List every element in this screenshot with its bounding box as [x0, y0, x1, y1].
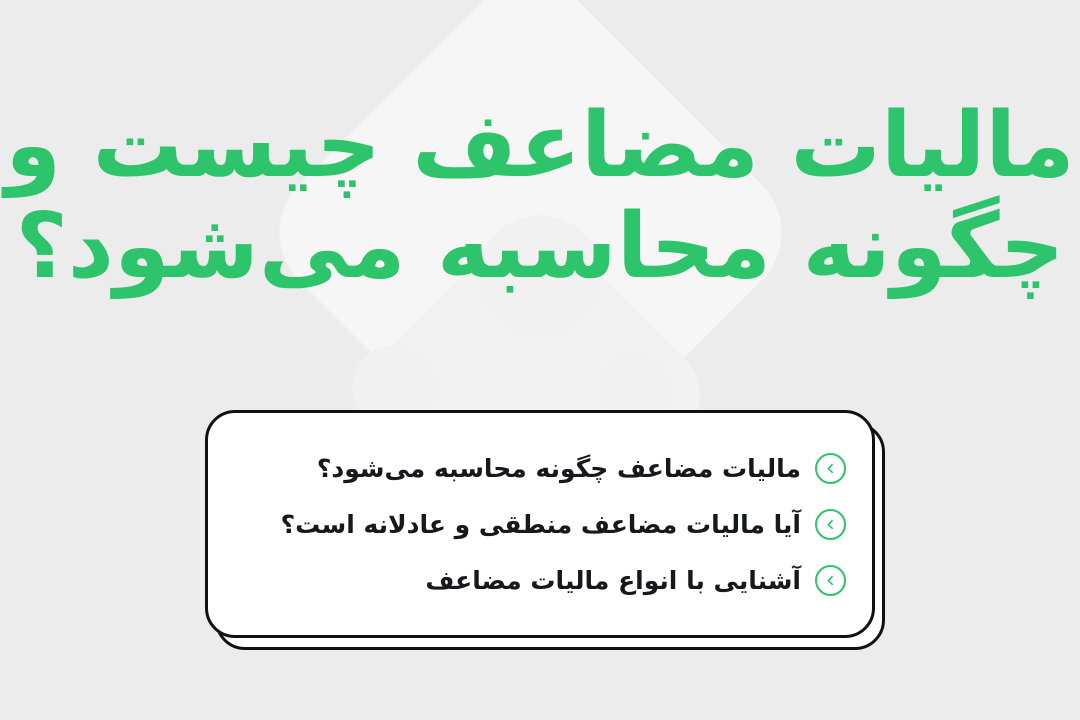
faq-list: مالیات مضاعف چگونه محاسبه می‌شود؟ آیا ما…: [234, 440, 846, 608]
chevron-left-circle-icon: [815, 509, 846, 540]
faq-card: مالیات مضاعف چگونه محاسبه می‌شود؟ آیا ما…: [205, 410, 887, 658]
list-item[interactable]: آشنایی با انواع مالیات مضاعف: [234, 552, 846, 608]
chevron-left-circle-icon: [815, 453, 846, 484]
list-item[interactable]: مالیات مضاعف چگونه محاسبه می‌شود؟: [234, 440, 846, 496]
list-item-label: مالیات مضاعف چگونه محاسبه می‌شود؟: [317, 456, 801, 481]
poster-stage: مالیات مضاعف چیست و چگونه محاسبه می‌شود؟…: [0, 0, 1080, 720]
page-title: مالیات مضاعف چیست و چگونه محاسبه می‌شود؟: [0, 96, 1080, 298]
faq-card-surface: مالیات مضاعف چگونه محاسبه می‌شود؟ آیا ما…: [205, 410, 875, 638]
page-title-line-1: مالیات مضاعف چیست و: [0, 96, 1080, 197]
page-title-line-2: چگونه محاسبه می‌شود؟: [0, 197, 1080, 298]
list-item-label: آیا مالیات مضاعف منطقی و عادلانه است؟: [281, 512, 801, 537]
list-item[interactable]: آیا مالیات مضاعف منطقی و عادلانه است؟: [234, 496, 846, 552]
chevron-left-circle-icon: [815, 565, 846, 596]
list-item-label: آشنایی با انواع مالیات مضاعف: [425, 568, 801, 593]
